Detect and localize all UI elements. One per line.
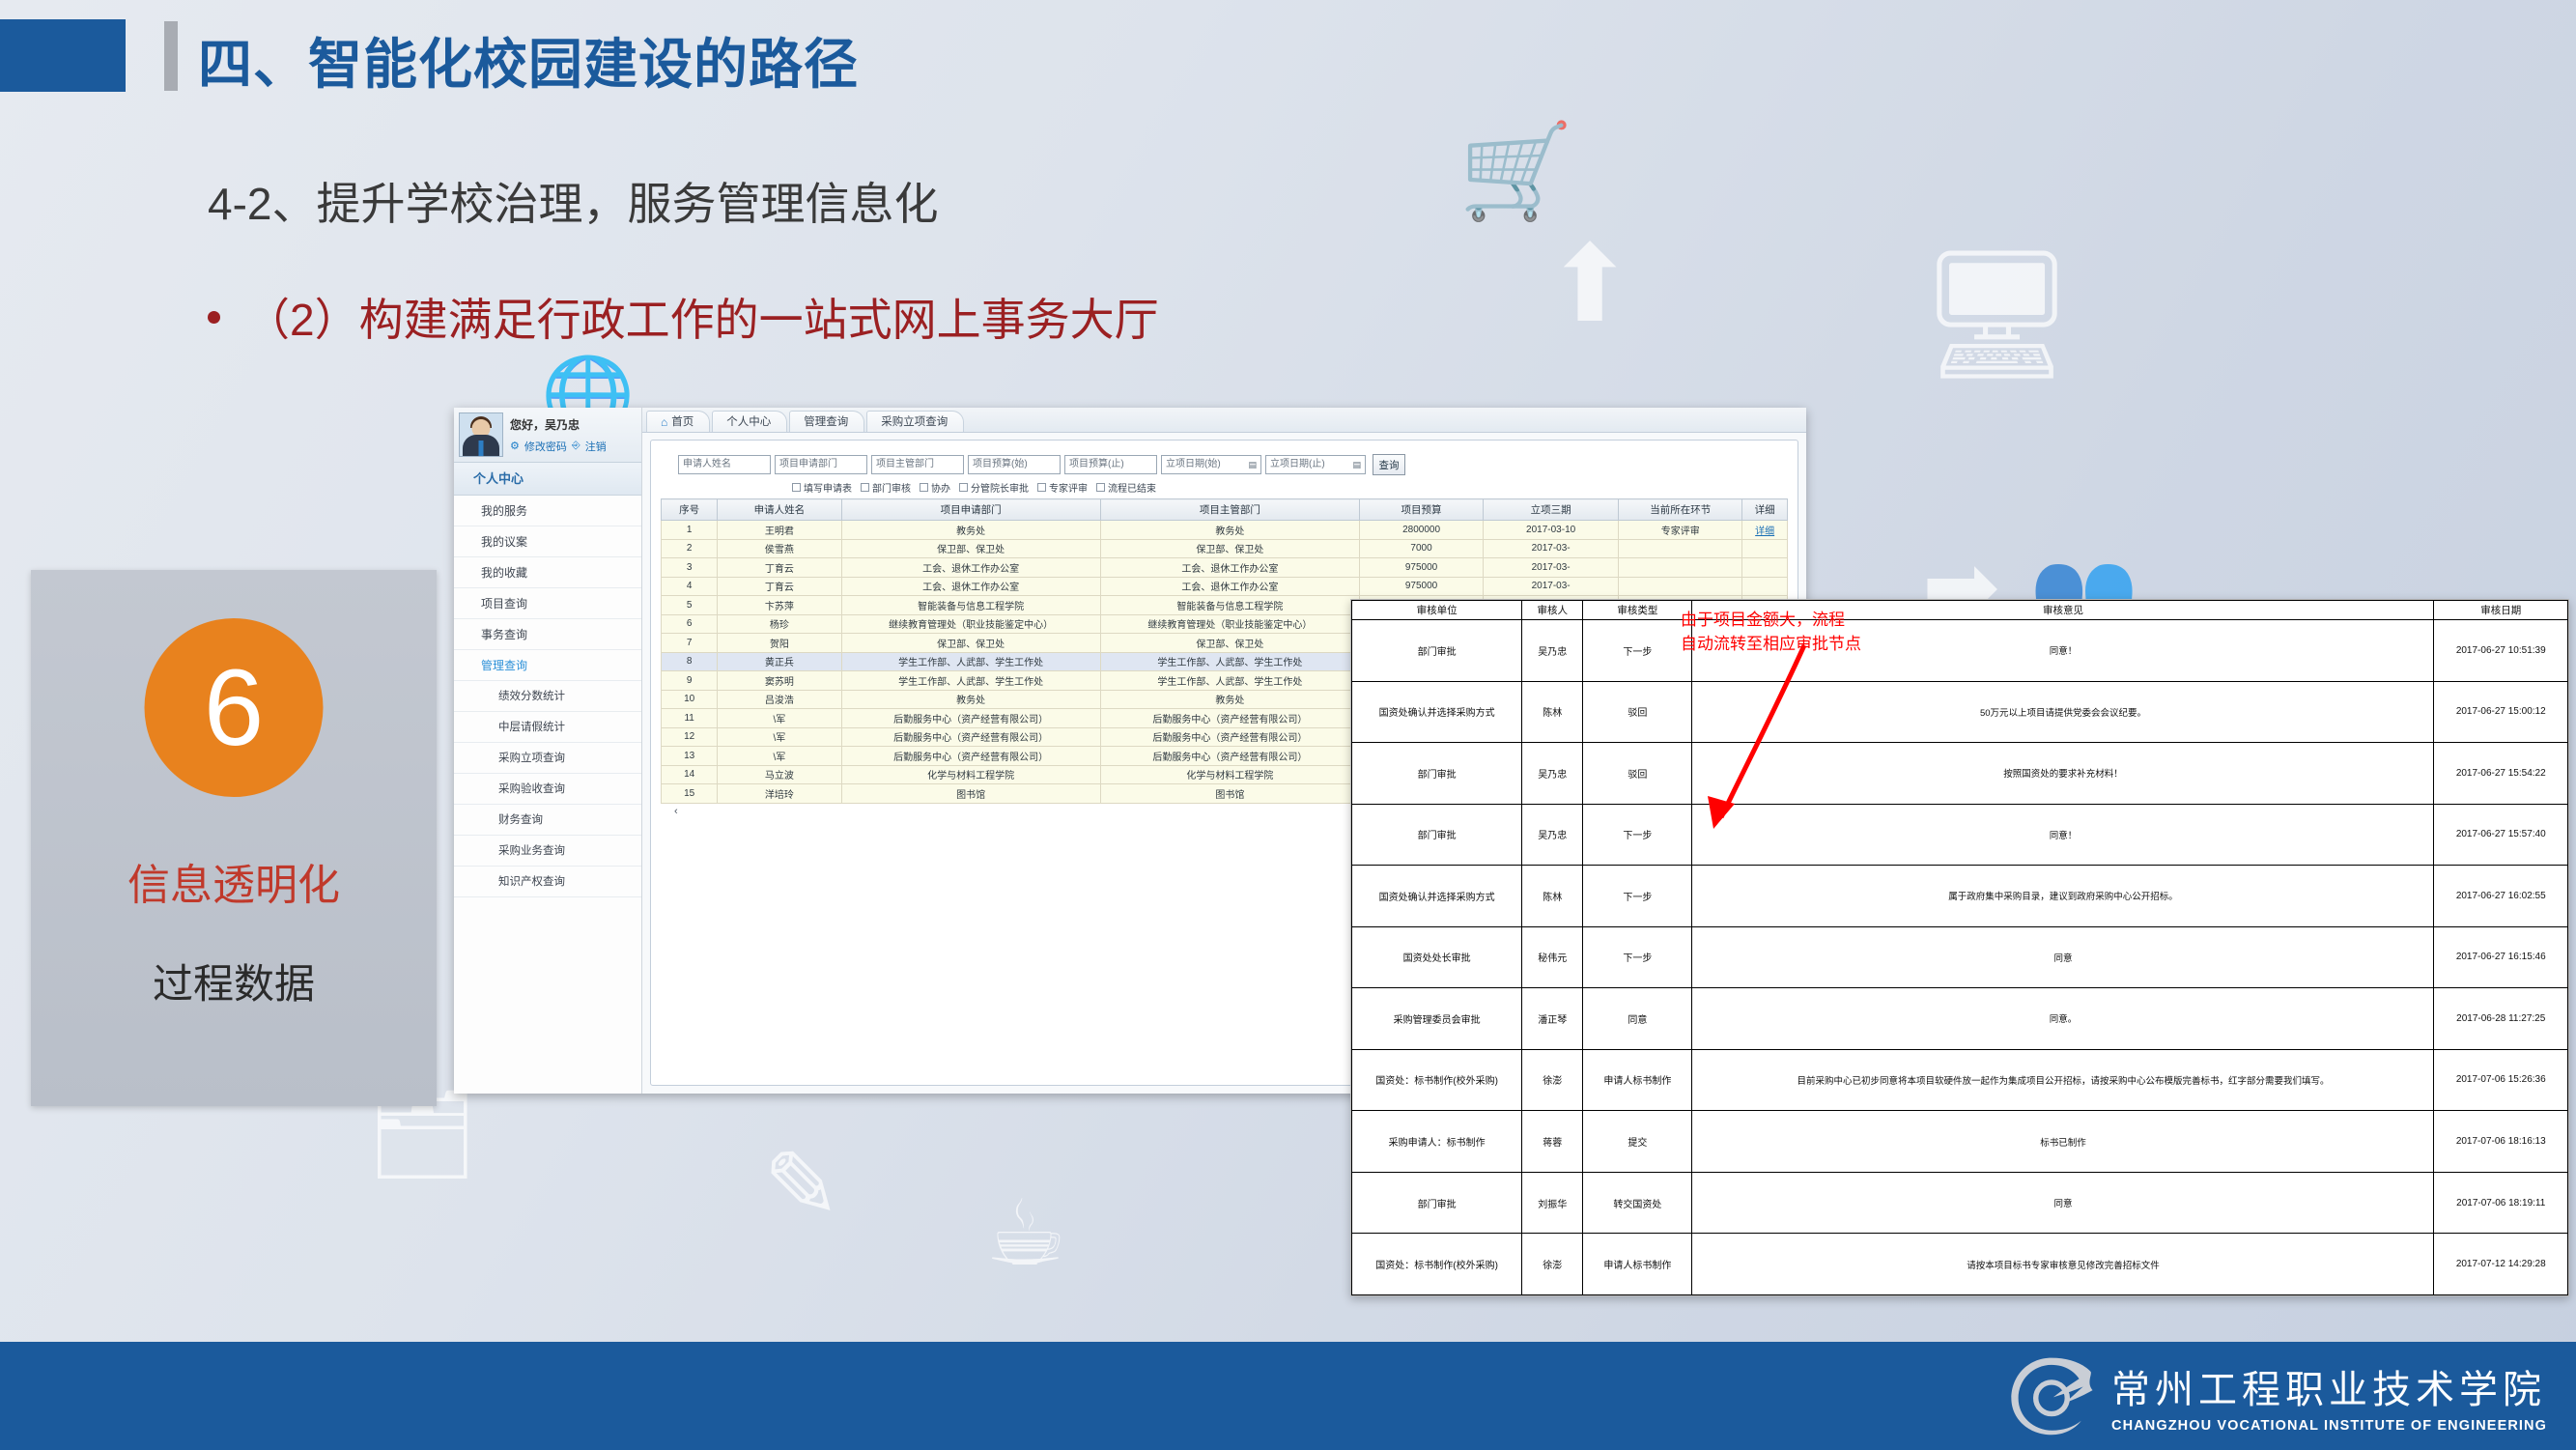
sidebar-menu: 我的服务我的议案我的收藏项目查询事务查询管理查询绩效分数统计中层请假统计采购立项… [454,496,641,897]
filter-checkbox-5[interactable]: 流程已结束 [1096,480,1156,495]
approval-date-cell: 2017-06-27 15:57:40 [2434,804,2568,866]
sidebar-item-label: 采购业务查询 [498,845,565,857]
sidebar-item-label: 我的服务 [481,504,527,518]
sidebar-item-1[interactable]: 我的议案 [454,526,641,557]
bullet-dot-icon [208,311,220,324]
table-cell: 2 [662,539,718,558]
table-cell: \军 [718,709,841,728]
approval-opinion-cell: 同意！ [1692,804,2434,866]
filter-input-1[interactable]: 项目申请部门 [775,455,867,474]
table-cell: 化学与材料工程学院 [1100,765,1359,784]
approval-row: 国资处确认并选择采购方式陈林下一步属于政府集中采购目录，建议到政府采购中心公开招… [1352,866,2568,927]
approval-type-cell: 驳回 [1583,681,1692,743]
approval-person-cell: 秘伟元 [1522,926,1583,988]
arrow-up-icon: ⬆ [1545,232,1634,338]
sidebar-item-label: 我的议案 [481,535,527,549]
tab-1[interactable]: 个人中心 [712,411,787,432]
table-row[interactable]: 2侯雪燕保卫部、保卫处保卫部、保卫处70002017-03- [662,539,1788,558]
table-cell: 后勤服务中心（资产经营有限公司） [1100,709,1359,728]
approval-date-cell: 2017-07-06 18:16:13 [2434,1111,2568,1173]
table-cell: 工会、退休工作办公室 [841,558,1100,578]
table-cell: 后勤服务中心（资产经营有限公司） [841,747,1100,766]
detail-cell[interactable] [1742,558,1788,578]
approval-unit-cell: 国资处：标书制作(校外采购) [1352,1234,1522,1295]
approval-opinion-cell: 标书已制作 [1692,1111,2434,1173]
title-accent-bar-blue [0,19,126,92]
approval-col-3: 审核意见 [1692,601,2434,620]
approval-row: 国资处确认并选择采购方式陈林驳回50万元以上项目请提供党委会会议纪要。2017-… [1352,681,2568,743]
approval-type-cell: 申请人标书制作 [1583,1234,1692,1295]
approval-person-cell: 刘振华 [1522,1172,1583,1234]
sidebar-item-5[interactable]: 管理查询 [454,650,641,681]
avatar [459,412,503,457]
table-col-7: 详细 [1742,499,1788,521]
filter-input-4[interactable]: 项目预算(止) [1064,455,1157,474]
approval-opinion-cell: 请按本项目标书专家审核意见修改完善招标文件 [1692,1234,2434,1295]
sidebar-item-label: 采购验收查询 [498,783,565,795]
tab-2[interactable]: 管理查询 [789,411,864,432]
table-cell: 工会、退休工作办公室 [841,577,1100,596]
table-col-1: 申请人姓名 [718,499,841,521]
approval-row: 国资处处长审批秘伟元下一步同意2017-06-27 16:15:46 [1352,926,2568,988]
sidebar-item-7[interactable]: 中层请假统计 [454,712,641,743]
approval-history-panel: 审核单位审核人审核类型审核意见审核日期 部门审批吴乃忠下一步同意！2017-06… [1350,599,2569,1296]
filter-input-row: 申请人姓名项目申请部门项目主管部门项目预算(始)项目预算(止)立项日期(始)▤立… [678,454,1788,475]
sidebar-item-8[interactable]: 采购立项查询 [454,743,641,774]
table-cell: 3 [662,558,718,578]
checkbox-icon[interactable] [861,483,869,492]
approval-person-cell: 蒋蓉 [1522,1111,1583,1173]
table-cell: 继续教育管理处（职业技能鉴定中心） [1100,614,1359,634]
logout-icon: ⎆ [572,440,580,452]
filter-area: 申请人姓名项目申请部门项目主管部门项目预算(始)项目预算(止)立项日期(始)▤立… [651,441,1798,498]
sidebar-item-label: 财务查询 [498,814,543,826]
table-cell: 后勤服务中心（资产经营有限公司） [1100,727,1359,747]
table-cell: 工会、退休工作办公室 [1100,577,1359,596]
approval-col-2: 审核类型 [1583,601,1692,620]
card-secondary-label: 过程数据 [31,952,437,1010]
checkbox-icon[interactable] [1037,483,1046,492]
filter-input-placeholder: 立项日期(止) [1270,456,1325,473]
sidebar-item-11[interactable]: 采购业务查询 [454,836,641,867]
approval-person-cell: 吴乃忠 [1522,743,1583,805]
checkbox-icon[interactable] [792,483,801,492]
filter-input-5[interactable]: 立项日期(始)▤ [1161,455,1261,474]
table-cell: 12 [662,727,718,747]
table-cell: 王明君 [718,521,841,540]
table-cell: 10 [662,690,718,709]
table-cell: 马立波 [718,765,841,784]
approval-opinion-cell: 同意 [1692,926,2434,988]
checkbox-icon[interactable] [920,483,928,492]
tab-0[interactable]: ⌂首页 [646,411,710,432]
table-cell: 学生工作部、人武部、学生工作处 [1100,671,1359,691]
sidebar-item-0[interactable]: 我的服务 [454,496,641,526]
table-cell: 窦苏明 [718,671,841,691]
sidebar-item-label: 中层请假统计 [498,722,565,733]
filter-checkbox-4[interactable]: 专家评审 [1037,480,1088,495]
table-cell: 学生工作部、人武部、学生工作处 [841,652,1100,671]
user-profile-box: 您好，吴乃忠 ⚙ 修改密码 ⎆ 注销 [454,408,641,463]
table-cell: 吕浚浩 [718,690,841,709]
tab-label: 采购立项查询 [881,416,948,428]
table-cell: 11 [662,709,718,728]
tab-label: 个人中心 [726,416,771,428]
approval-row: 部门审批刘振华转交国资处同意2017-07-06 18:19:11 [1352,1172,2568,1234]
tab-bar: ⌂首页个人中心管理查询采购立项查询 [642,408,1806,433]
pencil-icon: ✎ [763,1140,840,1233]
table-cell: 4 [662,577,718,596]
checkbox-label: 分管院长审批 [971,480,1029,495]
table-cell [1619,558,1742,578]
filter-input-2[interactable]: 项目主管部门 [871,455,964,474]
table-cell: 丁育云 [718,558,841,578]
table-cell: 智能装备与信息工程学院 [841,596,1100,615]
filter-input-3[interactable]: 项目预算(始) [968,455,1061,474]
approval-unit-cell: 部门审批 [1352,804,1522,866]
approval-type-cell: 下一步 [1583,620,1692,682]
table-cell: 6 [662,614,718,634]
sidebar-item-label: 项目查询 [481,597,527,611]
checkbox-label: 流程已结束 [1108,480,1156,495]
approval-row: 国资处：标书制作(校外采购)徐澎申请人标书制作请按本项目标书专家审核意见修改完善… [1352,1234,2568,1295]
table-cell: \军 [718,727,841,747]
calendar-icon[interactable]: ▤ [1248,456,1257,473]
table-row[interactable]: 3丁育云工会、退休工作办公室工会、退休工作办公室9750002017-03- [662,558,1788,578]
approval-unit-cell: 国资处处长审批 [1352,926,1522,988]
table-cell: 975000 [1359,558,1483,578]
slide-bullet-text: （2）构建满足行政工作的一站式网上事务大厅 [245,285,1159,349]
approval-col-0: 审核单位 [1352,601,1522,620]
table-cell: 8 [662,652,718,671]
table-cell: 2017-03-10 [1484,521,1619,540]
table-cell: 学生工作部、人武部、学生工作处 [841,671,1100,691]
table-cell: 继续教育管理处（职业技能鉴定中心） [841,614,1100,634]
approval-type-cell: 提交 [1583,1111,1692,1173]
approval-opinion-cell: 同意。 [1692,988,2434,1050]
logo-chinese-name: 常州工程职业技术学院 [2111,1358,2547,1414]
approval-opinion-cell: 按照国资处的要求补充材料！ [1692,743,2434,805]
table-cell: 杨珍 [718,614,841,634]
table-cell [1619,577,1742,596]
slide-header: 四、智能化校园建设的路径 [0,0,2576,155]
approval-opinion-cell: 同意！ [1692,620,2434,682]
approval-date-cell: 2017-06-27 15:54:22 [2434,743,2568,805]
checkbox-label: 部门审核 [872,480,911,495]
filter-input-6[interactable]: 立项日期(止)▤ [1265,455,1366,474]
coffee-icon: ☕ [985,1188,1066,1279]
title-accent-bar-grey [164,21,178,91]
table-col-2: 项目申请部门 [841,499,1100,521]
table-cell: 侯雪燕 [718,539,841,558]
table-cell: 图书馆 [1100,784,1359,804]
monitor-icon: 🖥 [1917,251,2077,377]
table-col-6: 当前所在环节 [1619,499,1742,521]
table-cell: 2800000 [1359,521,1483,540]
filter-input-placeholder: 项目预算(止) [1069,456,1124,473]
approval-date-cell: 2017-06-28 11:27:25 [2434,988,2568,1050]
table-cell: 5 [662,596,718,615]
approval-unit-cell: 采购申请人：标书制作 [1352,1111,1522,1173]
filter-input-placeholder: 项目预算(始) [973,456,1028,473]
table-col-0: 序号 [662,499,718,521]
approval-unit-cell: 部门审批 [1352,620,1522,682]
search-button[interactable]: 查询 [1373,454,1405,475]
approval-row: 国资处：标书制作(校外采购)徐澎申请人标书制作目前采购中心已初步同意将本项目软硬… [1352,1049,2568,1111]
table-cell: 7000 [1359,539,1483,558]
approval-person-cell: 陈林 [1522,681,1583,743]
approval-row: 采购管理委员会审批潘正琴同意同意。2017-06-28 11:27:25 [1352,988,2568,1050]
sidebar-item-12[interactable]: 知识产权查询 [454,867,641,897]
table-cell: 2017-03- [1484,577,1619,596]
approval-type-cell: 同意 [1583,988,1692,1050]
approval-date-cell: 2017-07-06 15:26:36 [2434,1049,2568,1111]
table-cell: 化学与材料工程学院 [841,765,1100,784]
home-icon: ⌂ [661,412,667,433]
calendar-icon[interactable]: ▤ [1352,456,1361,473]
tab-label: 管理查询 [804,416,848,428]
table-cell: 卞苏萍 [718,596,841,615]
filter-checkbox-0[interactable]: 填写申请表 [792,480,852,495]
table-header-row: 序号申请人姓名项目申请部门项目主管部门项目预算立项三期当前所在环节详细 [662,499,1788,521]
table-cell: 15 [662,784,718,804]
approval-table: 审核单位审核人审核类型审核意见审核日期 部门审批吴乃忠下一步同意！2017-06… [1351,600,2568,1295]
approval-type-cell: 驳回 [1583,743,1692,805]
approval-body: 部门审批吴乃忠下一步同意！2017-06-27 10:51:39国资处确认并选择… [1352,620,2568,1295]
filter-checkbox-1[interactable]: 部门审核 [861,480,911,495]
table-cell: 图书馆 [841,784,1100,804]
approval-person-cell: 潘正琴 [1522,988,1583,1050]
sidebar-item-label: 事务查询 [481,628,527,641]
step-number-badge: 6 [145,618,324,797]
approval-header-row: 审核单位审核人审核类型审核意见审核日期 [1352,601,2568,620]
filter-input-placeholder: 立项日期(始) [1166,456,1221,473]
table-cell: 学生工作部、人武部、学生工作处 [1100,652,1359,671]
slide-footer: 常州工程职业技术学院 CHANGZHOU VOCATIONAL INSTITUT… [0,1342,2576,1450]
checkbox-icon[interactable] [959,483,968,492]
table-col-4: 项目预算 [1359,499,1483,521]
approval-date-cell: 2017-06-27 15:00:12 [2434,681,2568,743]
sidebar-item-6[interactable]: 绩效分数统计 [454,681,641,712]
table-cell: 教务处 [841,690,1100,709]
table-cell: 14 [662,765,718,784]
approval-row: 部门审批吴乃忠驳回按照国资处的要求补充材料！2017-06-27 15:54:2… [1352,743,2568,805]
sidebar-header: 个人中心 [454,463,641,496]
approval-type-cell: 下一步 [1583,866,1692,927]
table-cell [1619,539,1742,558]
filter-input-placeholder: 项目主管部门 [876,456,934,473]
table-cell: 后勤服务中心（资产经营有限公司） [1100,747,1359,766]
detail-cell[interactable]: 详细 [1742,521,1788,540]
table-cell: 洋培玲 [718,784,841,804]
institution-logo: 常州工程职业技术学院 CHANGZHOU VOCATIONAL INSTITUT… [2007,1354,2547,1437]
table-cell: 后勤服务中心（资产经营有限公司） [841,727,1100,747]
table-cell: 保卫部、保卫处 [841,539,1100,558]
approval-person-cell: 徐澎 [1522,1049,1583,1111]
approval-type-cell: 下一步 [1583,926,1692,988]
sidebar-item-9[interactable]: 采购验收查询 [454,774,641,805]
table-cell: 9 [662,671,718,691]
logout-link[interactable]: 注销 [585,439,607,454]
approval-date-cell: 2017-06-27 16:15:46 [2434,926,2568,988]
filter-checkbox-row: 填写申请表部门审核协办分管院长审批专家评审流程已结束 [792,480,1788,495]
table-cell: 保卫部、保卫处 [1100,634,1359,653]
approval-opinion-cell: 同意 [1692,1172,2434,1234]
sidebar-item-label: 管理查询 [481,659,527,672]
checkbox-icon[interactable] [1096,483,1105,492]
sidebar-item-label: 我的收藏 [481,566,527,580]
filter-input-placeholder: 项目申请部门 [779,456,837,473]
table-col-5: 立项三期 [1484,499,1619,521]
logo-mark-icon [2007,1354,2096,1437]
approval-row: 部门审批吴乃忠下一步同意！2017-06-27 10:51:39 [1352,620,2568,682]
page-title: 四、智能化校园建设的路径 [198,21,859,100]
approval-person-cell: 徐澎 [1522,1234,1583,1295]
slide-subtitle: 4-2、提升学校治理，服务管理信息化 [208,169,938,233]
approval-row: 部门审批吴乃忠下一步同意！2017-06-27 15:57:40 [1352,804,2568,866]
filter-checkbox-2[interactable]: 协办 [920,480,950,495]
approval-unit-cell: 采购管理委员会审批 [1352,988,1522,1050]
table-cell: 专家评审 [1619,521,1742,540]
approval-opinion-cell: 目前采购中心已初步同意将本项目软硬件放一起作为集成项目公开招标，请按采购中心公布… [1692,1049,2434,1111]
table-cell: 智能装备与信息工程学院 [1100,596,1359,615]
table-cell: 1 [662,521,718,540]
approval-unit-cell: 国资处确认并选择采购方式 [1352,681,1522,743]
checkbox-label: 协办 [931,480,950,495]
table-cell: 975000 [1359,577,1483,596]
approval-person-cell: 吴乃忠 [1522,620,1583,682]
table-cell: 2017-03- [1484,539,1619,558]
sidebar-item-label: 绩效分数统计 [498,691,565,702]
approval-date-cell: 2017-07-12 14:29:28 [2434,1234,2568,1295]
filter-checkbox-3[interactable]: 分管院长审批 [959,480,1029,495]
filter-input-placeholder: 申请人姓名 [683,456,731,473]
sidebar-item-4[interactable]: 事务查询 [454,619,641,650]
table-cell: 丁育云 [718,577,841,596]
card-primary-label: 信息透明化 [31,850,437,912]
table-row[interactable]: 4丁育云工会、退休工作办公室工会、退休工作办公室9750002017-03- [662,577,1788,596]
sidebar-item-label: 知识产权查询 [498,876,565,888]
checkbox-label: 专家评审 [1049,480,1088,495]
approval-type-cell: 下一步 [1583,804,1692,866]
approval-date-cell: 2017-06-27 10:51:39 [2434,620,2568,682]
sidebar-item-label: 采购立项查询 [498,753,565,764]
approval-type-cell: 转交国资处 [1583,1172,1692,1234]
approval-row: 采购申请人：标书制作蒋蓉提交标书已制作2017-07-06 18:16:13 [1352,1111,2568,1173]
approval-person-cell: 陈林 [1522,866,1583,927]
approval-type-cell: 申请人标书制作 [1583,1049,1692,1111]
approval-date-cell: 2017-07-06 18:19:11 [2434,1172,2568,1234]
table-cell: 贺阳 [718,634,841,653]
approval-unit-cell: 国资处：标书制作(校外采购) [1352,1049,1522,1111]
tab-3[interactable]: 采购立项查询 [866,411,964,432]
highlight-card: 6 信息透明化 过程数据 [31,570,437,1106]
table-cell: 黄正兵 [718,652,841,671]
change-password-link[interactable]: 修改密码 [524,439,567,454]
user-greeting: 您好，吴乃忠 [510,416,607,433]
table-cell: 2017-03- [1484,558,1619,578]
filter-input-0[interactable]: 申请人姓名 [678,455,771,474]
detail-cell[interactable] [1742,577,1788,596]
approval-date-cell: 2017-06-27 16:02:55 [2434,866,2568,927]
sidebar-item-10[interactable]: 财务查询 [454,805,641,836]
table-col-3: 项目主管部门 [1100,499,1359,521]
table-cell: 13 [662,747,718,766]
table-row[interactable]: 1王明君教务处教务处28000002017-03-10专家评审详细 [662,521,1788,540]
table-cell: \军 [718,747,841,766]
gear-icon: ⚙ [510,440,520,452]
table-cell: 7 [662,634,718,653]
approval-opinion-cell: 50万元以上项目请提供党委会会议纪要。 [1692,681,2434,743]
table-cell: 教务处 [1100,521,1359,540]
table-cell: 保卫部、保卫处 [1100,539,1359,558]
approval-unit-cell: 部门审批 [1352,1172,1522,1234]
table-cell: 教务处 [841,521,1100,540]
detail-link[interactable]: 详细 [1755,526,1774,537]
approval-col-4: 审核日期 [2434,601,2568,620]
approval-opinion-cell: 属于政府集中采购目录，建议到政府采购中心公开招标。 [1692,866,2434,927]
logo-english-name: CHANGZHOU VOCATIONAL INSTITUTE OF ENGINE… [2111,1418,2547,1434]
sidebar-item-2[interactable]: 我的收藏 [454,557,641,588]
slide-bullet: （2）构建满足行政工作的一站式网上事务大厅 [208,285,1159,349]
approval-unit-cell: 部门审批 [1352,743,1522,805]
table-cell: 教务处 [1100,690,1359,709]
checkbox-label: 填写申请表 [804,480,852,495]
approval-person-cell: 吴乃忠 [1522,804,1583,866]
sidebar-item-3[interactable]: 项目查询 [454,588,641,619]
approval-unit-cell: 国资处确认并选择采购方式 [1352,866,1522,927]
detail-cell[interactable] [1742,539,1788,558]
app-sidebar: 您好，吴乃忠 ⚙ 修改密码 ⎆ 注销 个人中心 我的服务我的议案我的收藏项目查询… [454,408,642,1094]
tab-label: 首页 [671,412,694,433]
approval-col-1: 审核人 [1522,601,1583,620]
table-cell: 后勤服务中心（资产经营有限公司） [841,709,1100,728]
table-cell: 工会、退休工作办公室 [1100,558,1359,578]
table-cell: 保卫部、保卫处 [841,634,1100,653]
